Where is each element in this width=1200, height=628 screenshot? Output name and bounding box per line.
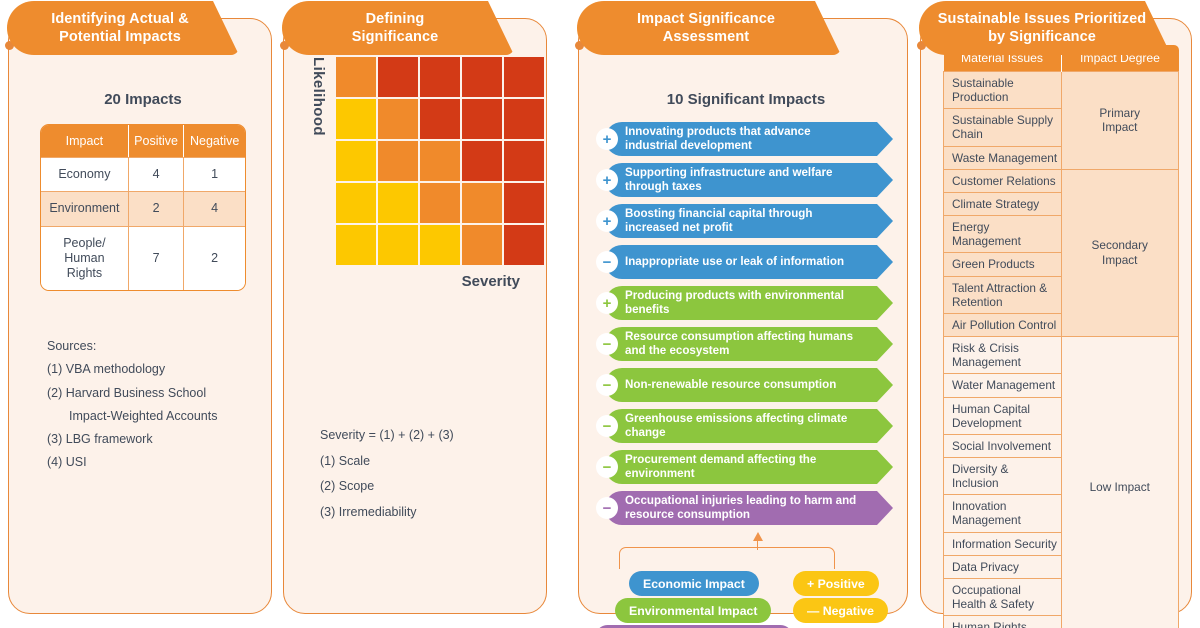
- panel-2-body: Likelihood Severity Severity = (1) + (2)…: [298, 33, 538, 603]
- significant-impacts-heading: 10 Significant Impacts: [593, 91, 899, 108]
- significant-impacts-list: +Innovating products that advance indust…: [593, 122, 899, 525]
- impact-arrow-label: Boosting financial capital through incre…: [625, 207, 893, 234]
- cell-material-issue: Sustainable Supply Chain: [944, 109, 1062, 146]
- source-item-2: (2) Harvard Business School: [47, 382, 263, 405]
- table-row: Economy 4 1: [41, 157, 245, 191]
- sources-block: Sources: (1) VBA methodology (2) Harvard…: [47, 335, 263, 474]
- impact-arrow-row: +Producing products with environmental b…: [595, 286, 893, 320]
- table-row: Sustainable ProductionPrimaryImpact: [944, 72, 1179, 109]
- heatmap-cell: [336, 57, 376, 97]
- cell-material-issue: Talent Attraction & Retention: [944, 276, 1062, 313]
- infographic-board: Identifying Actual &Potential Impacts 20…: [0, 0, 1200, 628]
- cell-material-issue: Human Rights: [944, 616, 1062, 628]
- plus-icon: +: [596, 169, 618, 191]
- matrix-y-axis-label: Likelihood: [310, 57, 327, 136]
- cell-impact-degree: Low Impact: [1061, 337, 1179, 628]
- cell-material-issue: Air Pollution Control: [944, 313, 1062, 336]
- heatmap-cell: [504, 99, 544, 139]
- material-issues-wrap: Material Issues Impact Degree Sustainabl…: [935, 45, 1183, 628]
- col-positive: Positive: [129, 125, 184, 157]
- table-row: Environment 2 4: [41, 191, 245, 225]
- cell-positive: 2: [129, 191, 184, 225]
- panel-3-title: Impact SignificanceAssessment: [637, 10, 775, 46]
- impact-arrow-row: −Resource consumption affecting humans a…: [595, 327, 893, 361]
- matrix-x-axis-label: Severity: [298, 273, 520, 290]
- panel-2-title: DefiningSignificance: [352, 10, 439, 46]
- heatmap-cell: [378, 141, 418, 181]
- plus-icon: +: [596, 292, 618, 314]
- legend-bracket-arrow-icon: [753, 532, 763, 541]
- heatmap-cell: [504, 57, 544, 97]
- cell-negative: 2: [184, 226, 245, 291]
- cell-material-issue: Waste Management: [944, 146, 1062, 169]
- severity-formula-block: Severity = (1) + (2) + (3) (1) Scale (2)…: [320, 423, 538, 526]
- cell-material-issue: Data Privacy: [944, 555, 1062, 578]
- heatmap-cell: [504, 141, 544, 181]
- minus-icon: −: [596, 415, 618, 437]
- minus-icon: −: [596, 251, 618, 273]
- impact-arrow-row: +Supporting infrastructure and welfare t…: [595, 163, 893, 197]
- significance-matrix-wrap: Likelihood Severity: [298, 57, 538, 357]
- impact-arrow-row: −Occupational injuries leading to harm a…: [595, 491, 893, 525]
- cell-material-issue: Information Security: [944, 532, 1062, 555]
- cell-material-issue: Sustainable Production: [944, 72, 1062, 109]
- impacts-count-heading: 20 Impacts: [23, 91, 263, 108]
- cell-impact-degree: PrimaryImpact: [1061, 72, 1179, 170]
- impact-arrow-label: Inappropriate use or leak of information: [625, 255, 878, 269]
- source-item-4: (4) USI: [47, 451, 263, 474]
- heatmap-cell: [462, 99, 502, 139]
- cell-material-issue: Energy Management: [944, 216, 1062, 253]
- heatmap-cell: [336, 225, 376, 265]
- heatmap-cell: [420, 141, 460, 181]
- heatmap-cell: [420, 57, 460, 97]
- source-item-1: (1) VBA methodology: [47, 358, 263, 381]
- impact-arrow-row: +Innovating products that advance indust…: [595, 122, 893, 156]
- plus-icon: +: [596, 128, 618, 150]
- legend-negative: — Negative: [793, 598, 888, 623]
- plus-icon: +: [596, 210, 618, 232]
- impact-arrow-label: Resource consumption affecting humans an…: [625, 330, 893, 357]
- severity-component-2: (2) Scope: [320, 474, 538, 500]
- severity-component-3: (3) Irremediability: [320, 500, 538, 526]
- severity-component-1: (1) Scale: [320, 449, 538, 475]
- heatmap-cell: [336, 183, 376, 223]
- cell-impact: Economy: [41, 157, 129, 191]
- cell-material-issue: Diversity & Inclusion: [944, 457, 1062, 494]
- impact-summary-table: Impact Positive Negative Economy 4 1 Env…: [40, 124, 246, 291]
- impact-arrow-row: −Inappropriate use or leak of informatio…: [595, 245, 893, 279]
- cell-impact: Environment: [41, 191, 129, 225]
- impact-arrow-row: −Procurement demand affecting the enviro…: [595, 450, 893, 484]
- minus-icon: −: [596, 497, 618, 519]
- cell-positive: 7: [129, 226, 184, 291]
- heatmap-cell: [462, 183, 502, 223]
- panel-1-header: Identifying Actual &Potential Impacts: [7, 1, 239, 55]
- legend-bracket-stem: [757, 540, 759, 550]
- heatmap-cell: [462, 141, 502, 181]
- cell-negative: 4: [184, 191, 245, 225]
- heatmap-cell: [336, 99, 376, 139]
- panel-sustainable-issues-prioritized: Sustainable Issues Prioritizedby Signifi…: [920, 18, 1192, 614]
- cell-material-issue: Green Products: [944, 253, 1062, 276]
- panel-4-header: Sustainable Issues Prioritizedby Signifi…: [919, 1, 1171, 55]
- legend-bracket: [619, 547, 835, 569]
- cell-material-issue: Innovation Management: [944, 495, 1062, 532]
- legend-economic-impact: Economic Impact: [629, 571, 759, 596]
- cell-impact-degree: SecondaryImpact: [1061, 169, 1179, 336]
- sources-title: Sources:: [47, 335, 263, 358]
- col-negative: Negative: [184, 125, 245, 157]
- impact-arrow-label: Supporting infrastructure and welfare th…: [625, 166, 893, 193]
- cell-material-issue: Social Involvement: [944, 434, 1062, 457]
- table-row: Customer RelationsSecondaryImpact: [944, 169, 1179, 192]
- heatmap-cell: [504, 183, 544, 223]
- cell-material-issue: Occupational Health & Safety: [944, 578, 1062, 615]
- cell-material-issue: Water Management: [944, 374, 1062, 397]
- panel-3-body: 10 Significant Impacts +Innovating produ…: [593, 33, 899, 603]
- impact-arrow-label: Innovating products that advance industr…: [625, 125, 893, 152]
- severity-formula: Severity = (1) + (2) + (3): [320, 423, 538, 449]
- cell-impact: People/HumanRights: [41, 226, 129, 291]
- heatmap-cell: [378, 183, 418, 223]
- panel-defining-significance: DefiningSignificance Likelihood Severity…: [283, 18, 547, 614]
- cell-positive: 4: [129, 157, 184, 191]
- significance-heatmap: [336, 57, 544, 265]
- panel-4-title: Sustainable Issues Prioritizedby Signifi…: [938, 10, 1147, 46]
- panel-2-header: DefiningSignificance: [282, 1, 514, 55]
- panel-identifying-impacts: Identifying Actual &Potential Impacts 20…: [8, 18, 272, 614]
- panel-3-header: Impact SignificanceAssessment: [577, 1, 841, 55]
- heatmap-cell: [420, 99, 460, 139]
- legend-environmental-impact: Environmental Impact: [615, 598, 771, 623]
- cell-material-issue: Climate Strategy: [944, 192, 1062, 215]
- source-item-3: (3) LBG framework: [47, 428, 263, 451]
- impact-arrow-label: Procurement demand affecting the environ…: [625, 453, 893, 480]
- source-item-2-cont: Impact-Weighted Accounts: [47, 405, 263, 428]
- minus-icon: −: [596, 374, 618, 396]
- impact-arrow-row: +Boosting financial capital through incr…: [595, 204, 893, 238]
- heatmap-cell: [420, 225, 460, 265]
- impact-arrow-row: −Greenhouse emissions affecting climate …: [595, 409, 893, 443]
- legend-positive: + Positive: [793, 571, 879, 596]
- cell-negative: 1: [184, 157, 245, 191]
- panel-1-title: Identifying Actual &Potential Impacts: [51, 10, 189, 46]
- impact-legend: Economic Impact Environmental Impact Peo…: [593, 547, 899, 628]
- table-header-row: Impact Positive Negative: [41, 125, 245, 157]
- minus-icon: −: [596, 456, 618, 478]
- table-row: Risk & Crisis ManagementLow Impact: [944, 337, 1179, 374]
- heatmap-cell: [462, 225, 502, 265]
- cell-material-issue: Human Capital Development: [944, 397, 1062, 434]
- heatmap-cell: [378, 225, 418, 265]
- heatmap-cell: [378, 57, 418, 97]
- panel-impact-significance-assessment: Impact SignificanceAssessment 10 Signifi…: [578, 18, 908, 614]
- cell-material-issue: Customer Relations: [944, 169, 1062, 192]
- heatmap-cell: [504, 225, 544, 265]
- minus-icon: −: [596, 333, 618, 355]
- impact-arrow-label: Producing products with environmental be…: [625, 289, 893, 316]
- cell-material-issue: Risk & Crisis Management: [944, 337, 1062, 374]
- heatmap-cell: [420, 183, 460, 223]
- material-issues-table: Material Issues Impact Degree Sustainabl…: [943, 45, 1179, 628]
- impact-arrow-row: −Non-renewable resource consumption: [595, 368, 893, 402]
- panel-4-body: Material Issues Impact Degree Sustainabl…: [935, 33, 1183, 603]
- col-impact: Impact: [41, 125, 129, 157]
- impact-arrow-label: Greenhouse emissions affecting climate c…: [625, 412, 893, 439]
- heatmap-cell: [336, 141, 376, 181]
- impact-arrow-label: Non-renewable resource consumption: [625, 378, 870, 392]
- heatmap-cell: [378, 99, 418, 139]
- impact-arrow-label: Occupational injuries leading to harm an…: [625, 494, 893, 521]
- heatmap-cell: [462, 57, 502, 97]
- table-row: People/HumanRights 7 2: [41, 226, 245, 291]
- panel-1-body: 20 Impacts Impact Positive Negative Econ…: [23, 33, 263, 603]
